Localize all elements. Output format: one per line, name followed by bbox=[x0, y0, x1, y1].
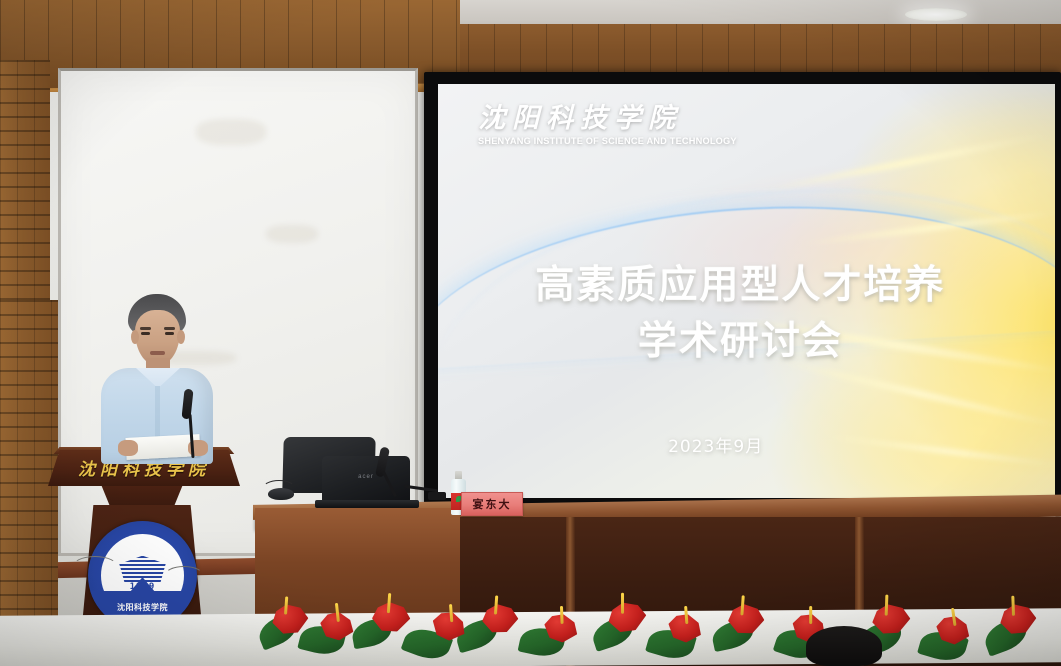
whiteboard-smudge bbox=[196, 119, 266, 145]
speaker-person bbox=[96, 294, 218, 464]
slide-logo-chinese: 沈阳科技学院 bbox=[478, 105, 745, 133]
flower-petal bbox=[480, 601, 520, 636]
anthurium-flower bbox=[934, 613, 972, 646]
slide-date: 2023年9月 bbox=[438, 432, 993, 457]
slide-light-streak bbox=[761, 130, 1053, 193]
flower-spadix bbox=[1011, 596, 1015, 616]
projection-screen: 沈阳科技学院 SHENYANG INSTITUTE OF SCIENCE AND… bbox=[438, 84, 1055, 498]
name-placard: 宴东大 bbox=[461, 492, 523, 516]
speaker-eyebrow-left bbox=[140, 327, 151, 330]
anthurium-flower bbox=[318, 610, 356, 642]
slide-title-line2: 学术研讨会 bbox=[438, 314, 1043, 371]
desk-microphone-base bbox=[428, 492, 446, 500]
floor-cable bbox=[164, 566, 204, 586]
anthurium-flower bbox=[726, 602, 766, 637]
speaker-eyebrow-right bbox=[164, 327, 175, 330]
speaker-ear-right bbox=[177, 330, 185, 344]
flower-spadix bbox=[560, 606, 564, 624]
speaker-eye-left bbox=[141, 332, 150, 335]
flower-spadix bbox=[621, 593, 624, 614]
slide-logo-english: SHENYANG INSTITUTE OF SCIENCE AND TECHNO… bbox=[478, 136, 737, 147]
speaker-face bbox=[135, 310, 180, 365]
laptop-front-base[interactable] bbox=[315, 500, 419, 508]
speaker-mouth bbox=[150, 351, 165, 355]
whiteboard-smudge bbox=[266, 225, 318, 243]
floor-cable bbox=[72, 556, 118, 578]
audience-head-silhouette bbox=[806, 626, 882, 666]
speaker-hand-left bbox=[118, 440, 138, 456]
flower-petal bbox=[726, 602, 766, 637]
anthurium-flower bbox=[480, 601, 520, 636]
speaker-eye-right bbox=[165, 332, 174, 335]
slide-title: 高素质应用型人才培养 学术研讨会 bbox=[438, 258, 1043, 371]
conference-photo-scene: 沈阳科技学院 SHENYANG INSTITUTE OF SCIENCE AND… bbox=[0, 0, 1061, 666]
anthurium-flower bbox=[371, 600, 412, 634]
flower-spadix bbox=[809, 606, 812, 624]
projection-screen-frame: 沈阳科技学院 SHENYANG INSTITUTE OF SCIENCE AND… bbox=[424, 72, 1061, 508]
slide-institution-logo: 沈阳科技学院 SHENYANG INSTITUTE OF SCIENCE AND… bbox=[478, 105, 745, 147]
desk-cable bbox=[262, 480, 296, 498]
slide-title-line1: 高素质应用型人才培养 bbox=[535, 263, 945, 308]
speaker-ear-left bbox=[131, 330, 139, 344]
name-placard-text: 宴东大 bbox=[462, 493, 522, 515]
flower-petal bbox=[371, 600, 412, 634]
anthurium-flower bbox=[542, 611, 580, 644]
emblem-institution-name: 沈阳科技学院 bbox=[88, 602, 197, 613]
ceiling-light-fixture bbox=[905, 8, 967, 21]
